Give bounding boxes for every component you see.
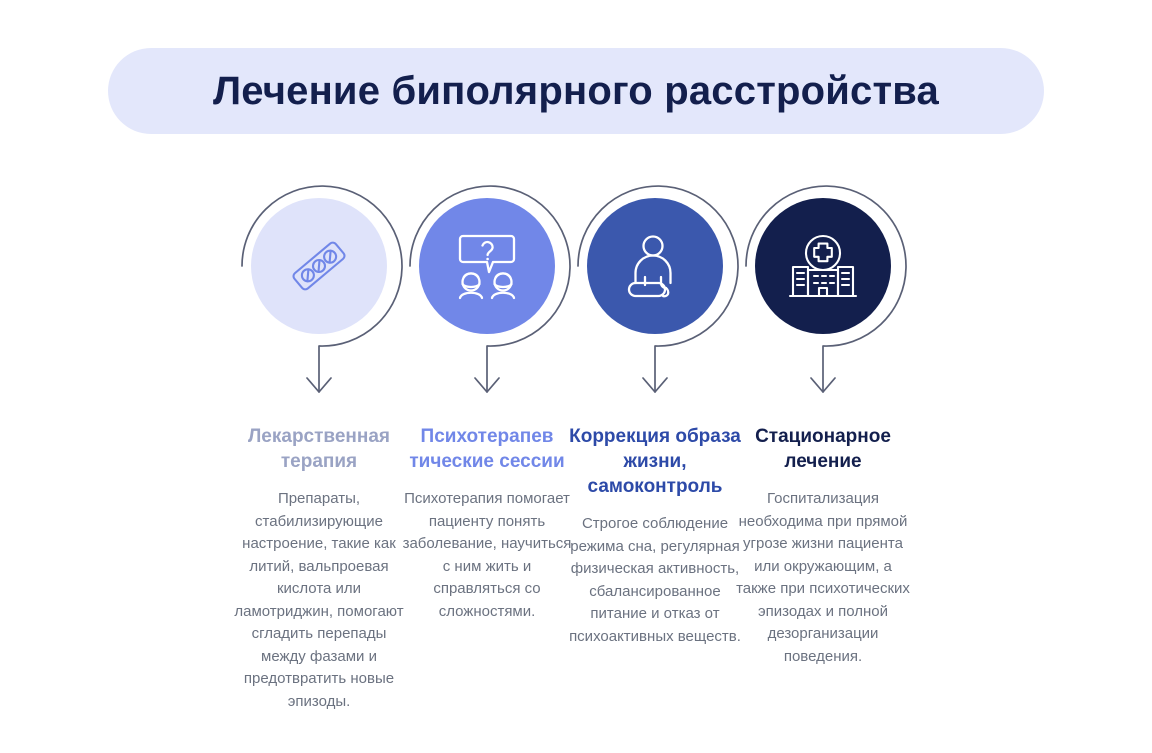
step-column-medication: Лекарственная терапия Препараты, стабили… xyxy=(230,424,408,713)
arrow-head-step-3 xyxy=(643,378,667,392)
step-body-medication: Препараты, стабилизирующие настроение, т… xyxy=(230,488,408,713)
step-title-psychotherapy: Психотерапев тические сессии xyxy=(398,424,576,474)
step-title-lifestyle: Коррекция образа жизни, самоконтроль xyxy=(566,424,744,499)
step-column-lifestyle: Коррекция образа жизни, самоконтроль Стр… xyxy=(566,424,744,648)
step-circle-lifestyle[interactable] xyxy=(587,198,723,334)
step-title-hospital: Стационарное лечение xyxy=(734,424,912,474)
step-circle-medication[interactable] xyxy=(251,198,387,334)
step-column-psychotherapy: Психотерапев тические сессии Психотерапи… xyxy=(398,424,576,623)
meditating-person-icon xyxy=(618,229,692,303)
step-body-hospital: Госпитализация необходима при прямой угр… xyxy=(734,488,912,668)
arrow-head-step-2 xyxy=(475,378,499,392)
hospital-icon xyxy=(786,229,860,303)
pill-blister-icon xyxy=(282,229,356,303)
step-column-hospital: Стационарное лечение Госпитализация необ… xyxy=(734,424,912,668)
step-circle-psychotherapy[interactable] xyxy=(419,198,555,334)
therapy-conversation-icon xyxy=(449,228,525,304)
arrow-head-step-1 xyxy=(307,378,331,392)
step-title-medication: Лекарственная терапия xyxy=(230,424,408,474)
step-circle-hospital[interactable] xyxy=(755,198,891,334)
step-body-psychotherapy: Психотерапия помогает пациенту понять за… xyxy=(398,488,576,623)
step-body-lifestyle: Строгое соблюдение режима сна, регулярна… xyxy=(566,513,744,648)
arrow-head-step-4 xyxy=(811,378,835,392)
